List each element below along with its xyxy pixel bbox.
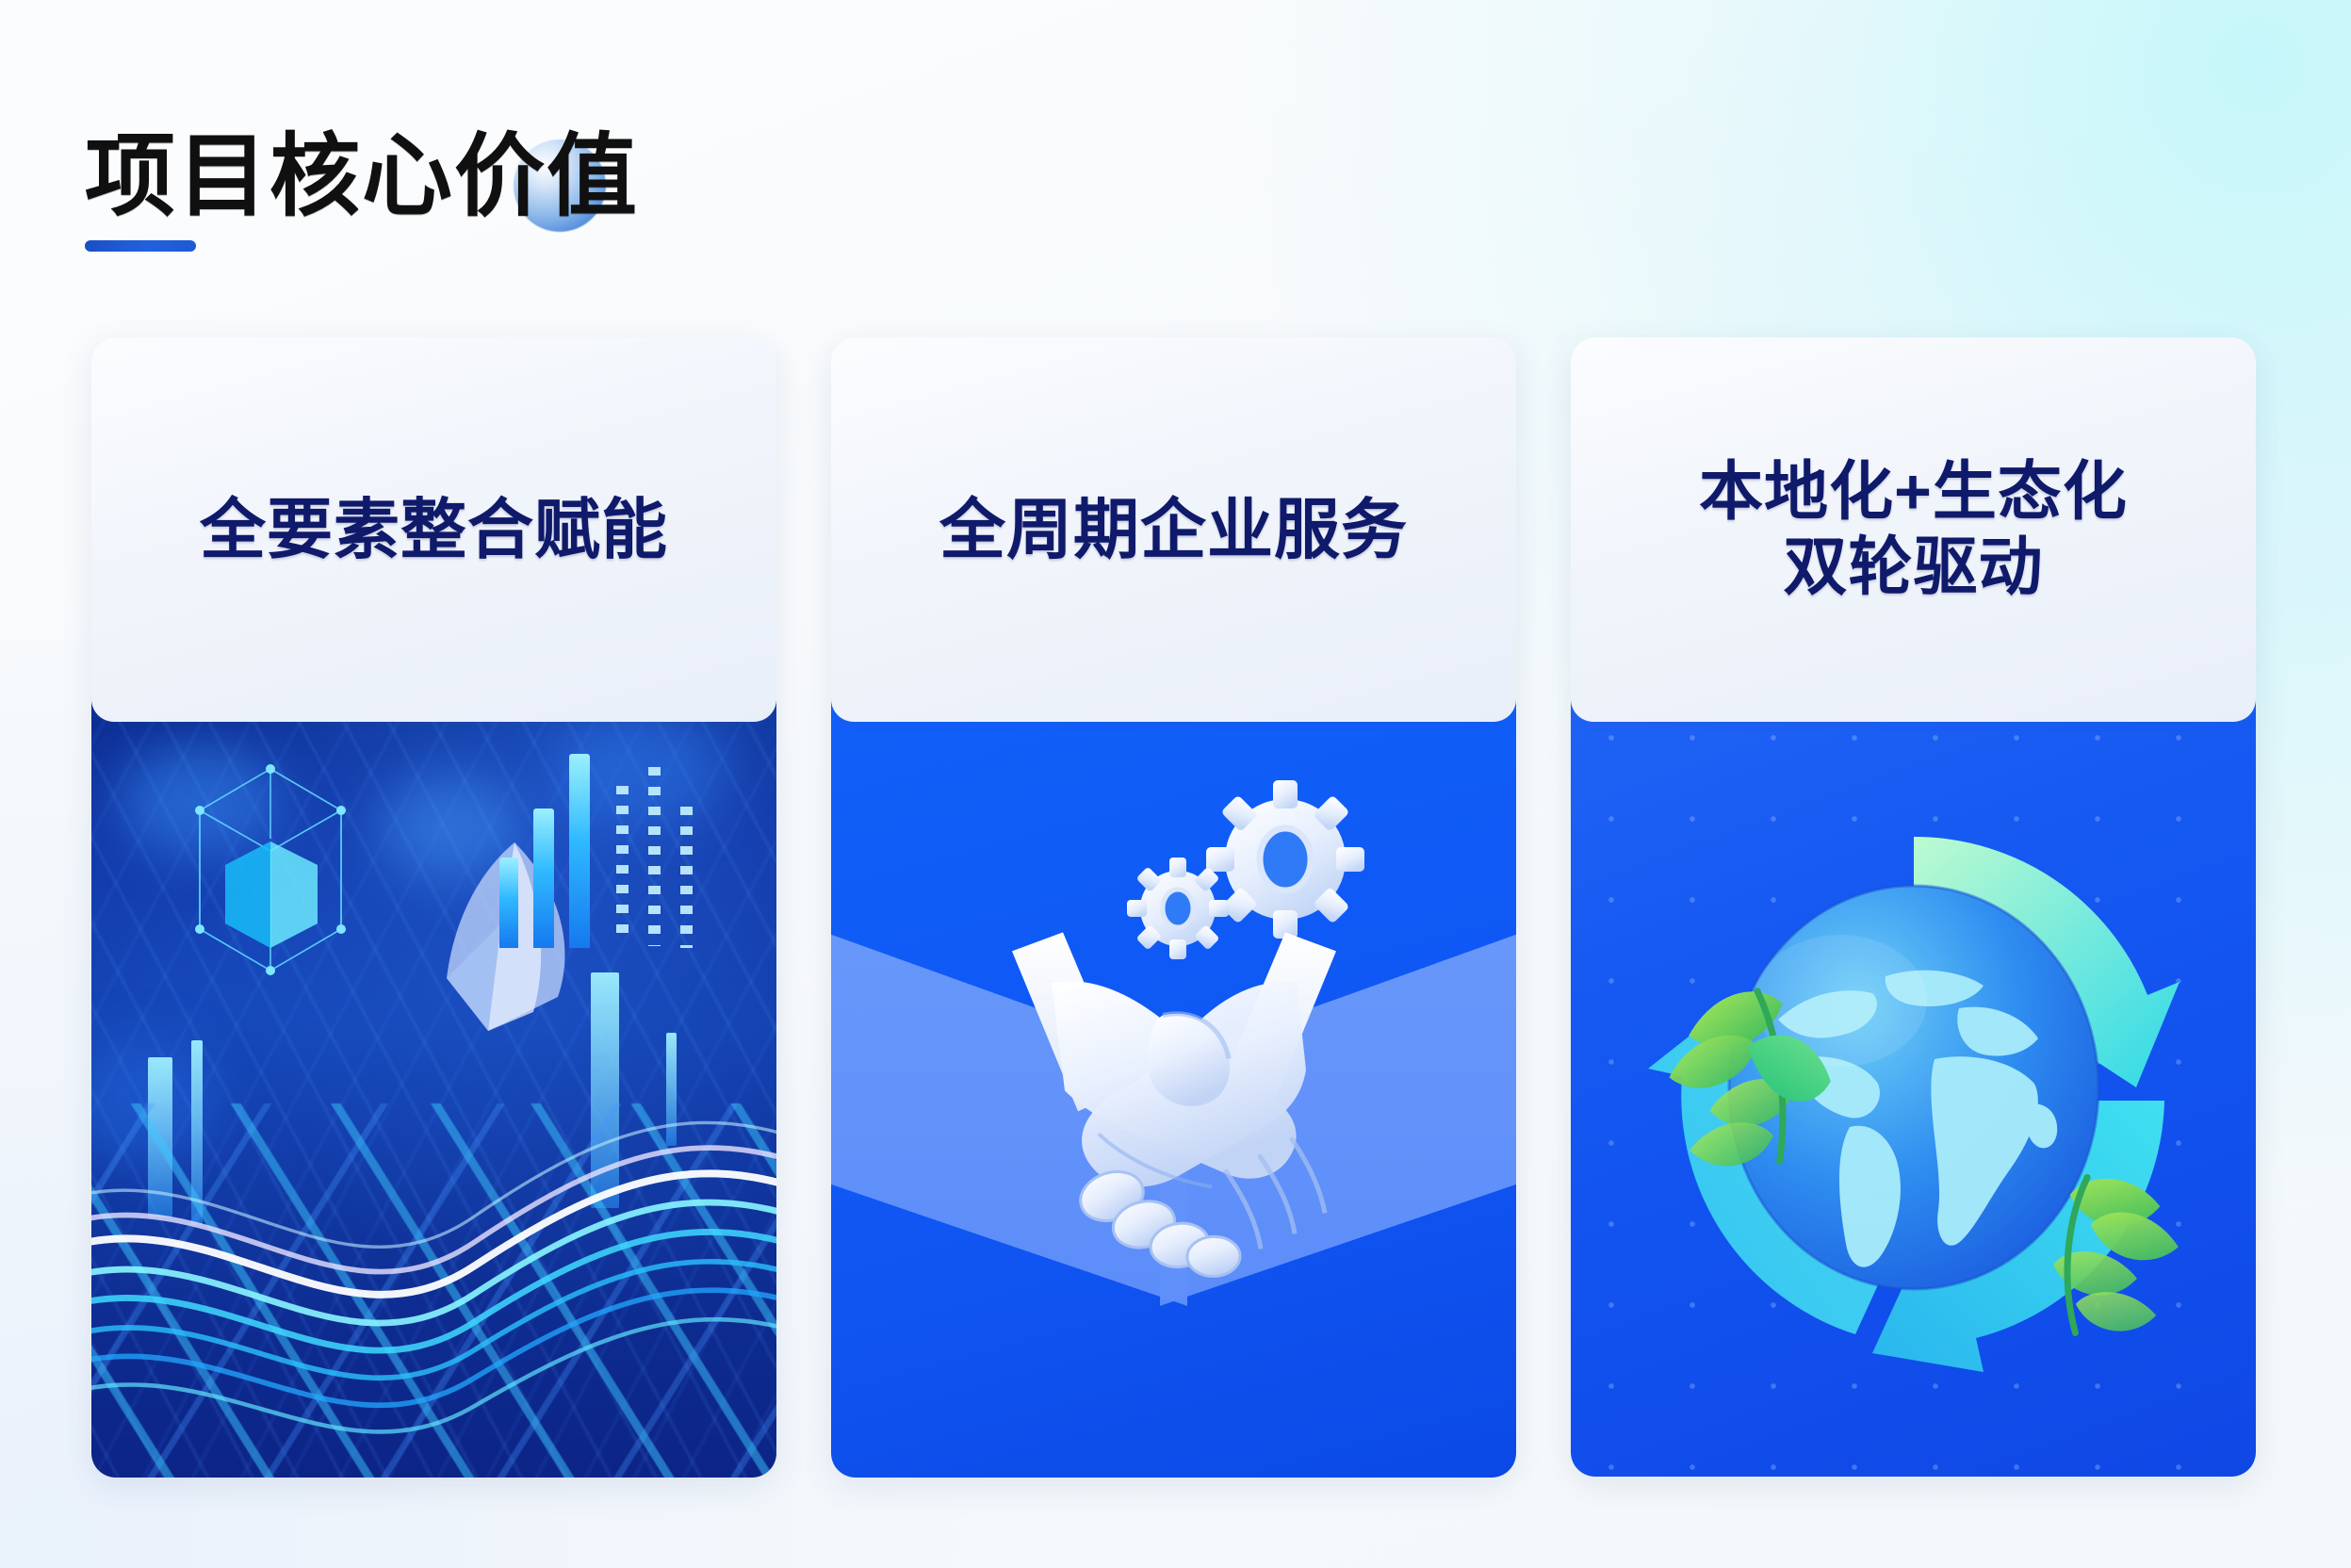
- bar-chart-icon: [486, 712, 722, 948]
- value-card-quanyaosu[interactable]: 全要素整合赋能: [91, 337, 776, 1478]
- handshake-gears-icon: [831, 697, 1516, 1478]
- handshake-icon: [910, 917, 1438, 1322]
- eco-illustration: [1603, 776, 2225, 1398]
- title-accent-bar: [85, 240, 196, 252]
- value-cards-container: 全要素整合赋能: [91, 337, 2274, 1496]
- globe-recycle-leaves-icon: [1571, 697, 2256, 1477]
- wireframe-cube-icon: [176, 752, 365, 988]
- value-card-bendihua[interactable]: 本地化+生态化 双轮驱动: [1571, 337, 2256, 1477]
- page-header: 项目核心价值: [85, 57, 933, 264]
- card-illustration: [831, 697, 1516, 1478]
- card-title: 全要素整合赋能: [200, 491, 668, 569]
- card-header-panel: 本地化+生态化 双轮驱动: [1571, 337, 2256, 722]
- card-header-panel: 全要素整合赋能: [91, 337, 776, 722]
- card-illustration: [1571, 697, 2256, 1477]
- card-illustration: [91, 697, 776, 1478]
- value-card-quanzhouqi[interactable]: 全周期企业服务: [831, 337, 1516, 1478]
- card-title: 本地化+生态化 双轮驱动: [1699, 454, 2128, 605]
- page-title: 项目核心价值: [85, 132, 639, 222]
- tech-data-visualization-icon: [91, 697, 776, 1478]
- card-title: 全周期企业服务: [939, 491, 1408, 569]
- flowing-wave-lines-icon: [91, 1040, 776, 1478]
- card-header-panel: 全周期企业服务: [831, 337, 1516, 722]
